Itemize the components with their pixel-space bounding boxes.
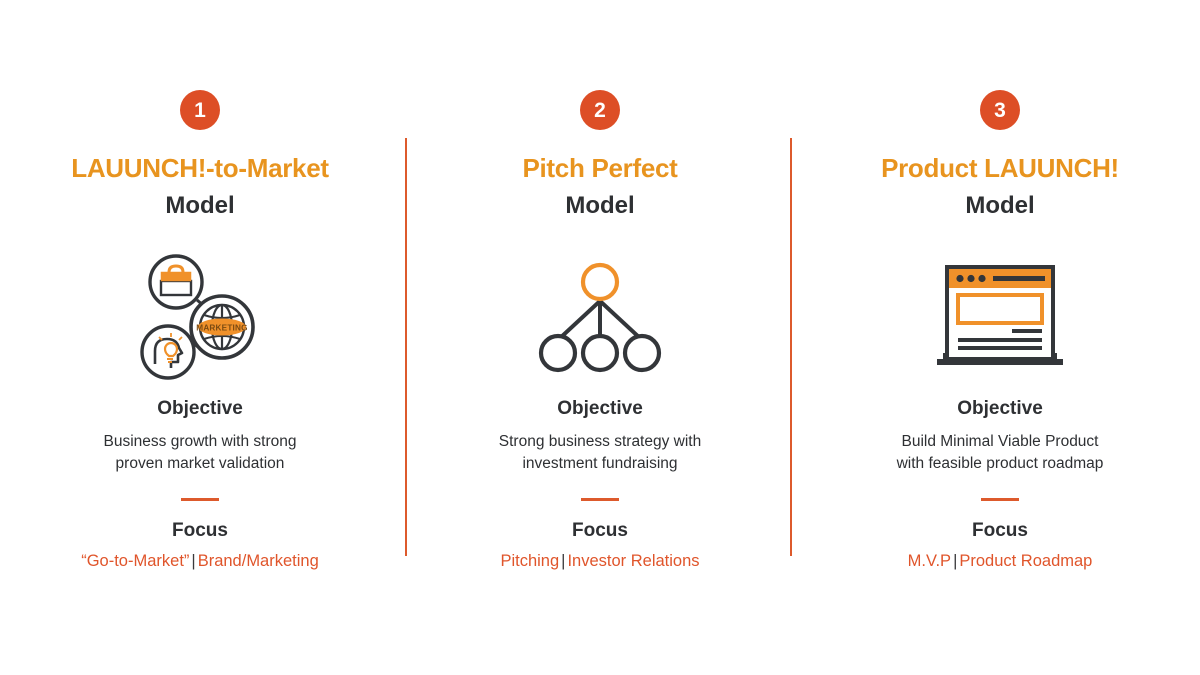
objective-line-2a: Strong business strategy with [499,433,701,450]
objective-line-1b: proven market validation [116,455,285,472]
globe-banner-label: MARKETING [196,323,247,332]
focus-divider-3 [981,498,1019,501]
marketing-globe-cluster-icon: MARKETING [135,247,265,387]
objective-heading-3: Objective [957,398,1043,420]
focus-item-2a: Pitching [500,552,559,570]
objective-heading-2: Objective [557,398,643,420]
focus-heading-1: Focus [172,520,228,542]
objective-text-1: Business growth with strong proven marke… [104,431,297,476]
column-pitch-perfect: 2 Pitch Perfect Model Objective Strong b… [400,0,800,675]
focus-item-3b: Product Roadmap [959,552,1092,570]
focus-item-1b: Brand/Marketing [198,552,319,570]
column-title-1: LAUUNCH!-to-Market [71,153,328,184]
org-hierarchy-icon [534,261,666,373]
objective-text-3: Build Minimal Viable Product with feasib… [897,431,1104,476]
focus-heading-2: Focus [572,520,628,542]
focus-text-1: “Go-to-Market”|Brand/Marketing [81,552,319,571]
icon-marketing-globe-cluster: MARKETING [135,242,265,392]
browser-wireframe-icon [929,261,1071,373]
column-launch-to-market: 1 LAUUNCH!-to-Market Model [0,0,400,675]
column-title-2: Pitch Perfect [522,153,677,184]
focus-divider-1 [181,498,219,501]
objective-text-2: Strong business strategy with investment… [499,431,701,476]
column-product-launch: 3 Product LAUUNCH! Model [800,0,1200,675]
focus-item-3a: M.V.P [908,552,951,570]
focus-divider-2 [581,498,619,501]
objective-heading-1: Objective [157,398,243,420]
icon-org-hierarchy [534,242,666,392]
infographic-board: 1 LAUUNCH!-to-Market Model [0,0,1200,675]
focus-text-2: Pitching|Investor Relations [500,552,699,571]
column-subtitle-2: Model [565,192,634,220]
step-number-badge-3: 3 [980,90,1020,130]
objective-line-2b: investment fundraising [522,455,677,472]
focus-heading-3: Focus [972,520,1028,542]
objective-line-1a: Business growth with strong [104,433,297,450]
icon-browser-wireframe [929,242,1071,392]
focus-separator-1: | [189,552,197,570]
column-title-3: Product LAUUNCH! [881,153,1119,184]
columns-container: 1 LAUUNCH!-to-Market Model [0,0,1200,675]
focus-item-2b: Investor Relations [567,552,699,570]
focus-text-3: M.V.P|Product Roadmap [908,552,1093,571]
column-subtitle-3: Model [965,192,1034,220]
column-subtitle-1: Model [165,192,234,220]
focus-item-1a: “Go-to-Market” [81,552,189,570]
step-number-badge-1: 1 [180,90,220,130]
objective-line-3b: with feasible product roadmap [897,455,1104,472]
step-number-badge-2: 2 [580,90,620,130]
objective-line-3a: Build Minimal Viable Product [901,433,1098,450]
